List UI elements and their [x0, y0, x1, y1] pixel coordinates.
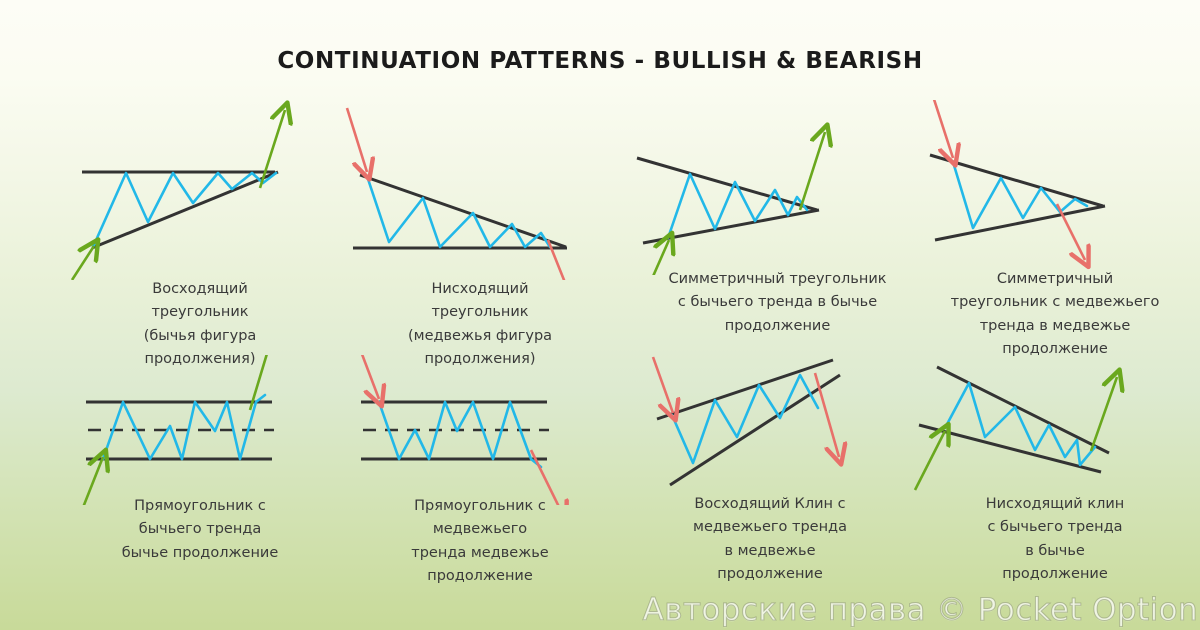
pattern-card-rectangle-bearish: Прямоугольник с медвежьего тренда медвеж… — [335, 355, 625, 600]
price-action-line — [668, 174, 807, 238]
rectangle-bearish-diagram — [335, 355, 625, 505]
breakout-arrow-bullish — [800, 132, 825, 210]
symmetrical-triangle-bearish-diagram — [905, 100, 1200, 275]
price-action-line — [103, 395, 265, 459]
pattern-card-rectangle-bullish: Прямоугольник с бычьего тренда бычье про… — [60, 355, 340, 600]
upper-trendline — [937, 367, 1109, 453]
breakout-arrow-bullish — [1091, 377, 1117, 451]
lower-trendline — [919, 425, 1101, 472]
pattern-caption: Прямоугольник с медвежьего тренда медвеж… — [335, 495, 625, 589]
resistance-trendline — [360, 175, 566, 247]
pattern-caption: Нисходящий клин с бычьего тренда в бычье… — [915, 493, 1195, 587]
copyright-watermark: Авторские права © Pocket Option — [643, 592, 1198, 628]
rectangle-bullish-diagram — [60, 355, 340, 505]
breakout-arrow-bearish — [815, 373, 839, 457]
entry-arrow-bearish — [347, 108, 367, 172]
entry-arrow-bullish — [72, 246, 94, 280]
pattern-card-symmetrical-triangle-bearish: Симметричный треугольник с медвежьего тр… — [905, 100, 1200, 370]
entry-arrow-bullish — [915, 431, 945, 490]
price-action-line — [945, 383, 1095, 465]
pattern-card-falling-wedge-bullish: Нисходящий клин с бычьего тренда в бычье… — [905, 345, 1200, 600]
entry-arrow-bearish — [931, 100, 953, 158]
symmetrical-triangle-bullish-diagram — [625, 100, 910, 275]
falling-wedge-bullish-diagram — [905, 345, 1200, 505]
pattern-card-symmetrical-triangle-bullish: Симметричный треугольник с бычьего тренд… — [625, 100, 910, 370]
page-title: CONTINUATION PATTERNS - BULLISH & BEARIS… — [0, 48, 1200, 74]
pattern-card-ascending-triangle: Восходящий треугольник (бычья фигура про… — [60, 100, 340, 370]
pattern-card-descending-triangle: Нисходящий треугольник (медвежья фигура … — [335, 100, 625, 370]
lower-trendline — [643, 210, 819, 243]
upper-trendline — [930, 155, 1103, 206]
pattern-caption: Симметричный треугольник с бычьего тренд… — [645, 268, 910, 338]
rising-wedge-bearish-diagram — [625, 345, 910, 505]
infographic-canvas: CONTINUATION PATTERNS - BULLISH & BEARIS… — [0, 0, 1200, 630]
pattern-caption: Восходящий Клин с медвежьего тренда в ме… — [635, 493, 905, 587]
pattern-caption: Прямоугольник с бычьего тренда бычье про… — [60, 495, 340, 565]
descending-triangle-diagram — [335, 100, 625, 280]
ascending-triangle-diagram — [60, 100, 340, 280]
price-action-line — [379, 402, 541, 467]
entry-arrow-bearish — [357, 355, 379, 399]
support-trendline — [92, 172, 278, 248]
entry-arrow-bearish — [653, 357, 673, 413]
pattern-card-rising-wedge-bearish: Восходящий Клин с медвежьего тренда в ме… — [625, 345, 910, 600]
